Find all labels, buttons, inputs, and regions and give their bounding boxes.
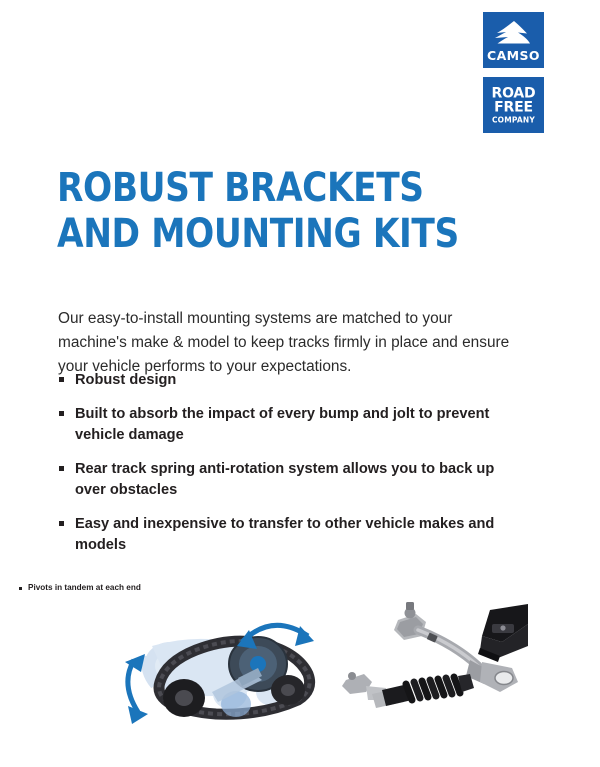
brand-logo-stack: CAMSO ROAD FREE COMPANY [483,12,544,133]
list-item: Rear track spring anti-rotation system a… [58,459,520,501]
spring-coils [406,677,460,700]
black-bracket-part [478,604,528,662]
road-free-company-badge: ROAD FREE COMPANY [483,77,544,133]
track-system-illustration [112,606,330,732]
feature-list: Robust design Built to absorb the impact… [58,370,520,569]
page-title-line-1: ROBUST BRACKETS [57,165,461,211]
badge-line-free: FREE [483,101,544,115]
camso-wordmark: CAMSO [483,50,544,63]
mounting-hardware-photo [342,596,530,724]
camso-logo-box: CAMSO [483,12,544,68]
list-item: Robust design [58,370,520,391]
page-title: ROBUST BRACKETS AND MOUNTING KITS [57,165,461,257]
list-item: Easy and inexpensive to transfer to othe… [58,514,520,556]
footnote-pivots: Pivots in tandem at each end [19,583,141,592]
camso-swoosh-icon [494,20,534,46]
intro-paragraph: Our easy-to-install mounting systems are… [58,307,520,379]
list-item: Built to absorb the impact of every bump… [58,404,520,446]
page-title-line-2: AND MOUNTING KITS [57,211,461,257]
badge-line-company: COMPANY [483,116,544,124]
badge-line-road: ROAD [483,86,544,100]
rear-track-spring-part [342,672,474,708]
badge-text: ROAD FREE COMPANY [483,86,544,123]
